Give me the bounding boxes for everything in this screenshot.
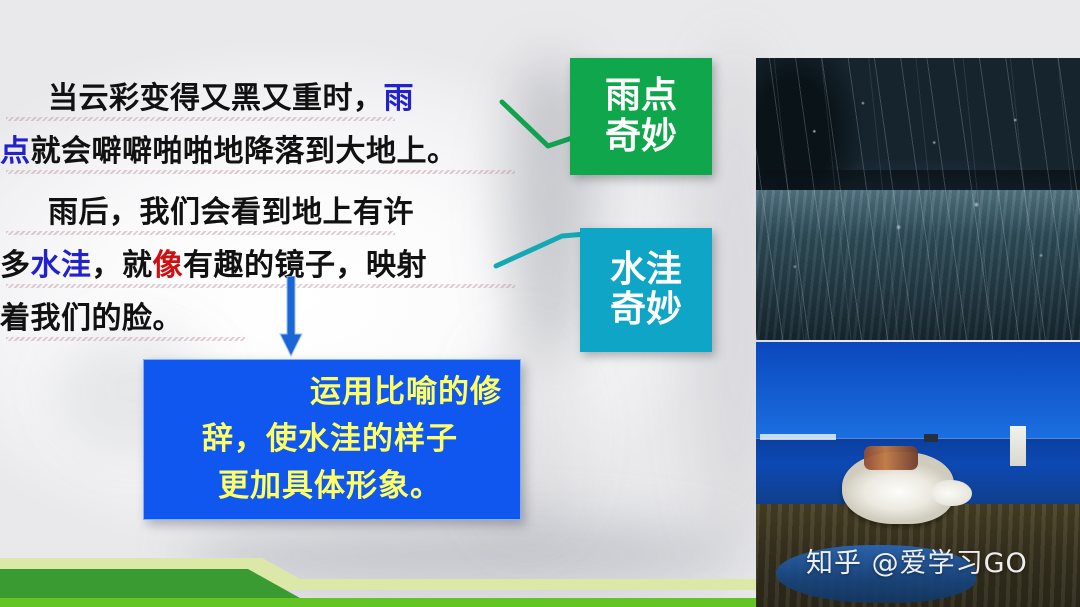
summary-line1: 运用比喻的修 (154, 369, 506, 416)
photo-rain-falling (756, 58, 1080, 340)
paragraph2-line3-text: 着我们的脸。 (0, 302, 183, 335)
photo-lake-sky (756, 342, 1080, 438)
callout-rain-drop-line2: 奇妙 (570, 117, 712, 157)
paragraph1-line2-highlight: 点 (0, 135, 31, 168)
paragraph2-line2: 多水洼，就像有趣的镜子，映射 (0, 239, 545, 292)
callout-puddle-line2: 奇妙 (580, 290, 712, 330)
paragraph2-line2-b: ，就 (92, 249, 153, 282)
paragraph2-line2-a: 多 (0, 249, 31, 282)
photo-lake-boat (924, 434, 938, 442)
paragraph1-line1-text: 当云彩变得又黑又重时， (48, 82, 384, 115)
summary-line3: 更加具体形象。 (154, 463, 506, 510)
slide-canvas: 当云彩变得又黑又重时，雨 点就会噼噼啪啪地降落到大地上。 雨后，我们会看到地上有… (0, 0, 1080, 607)
paragraph2-line2-red: 像 (153, 249, 184, 282)
paragraph2-line1-text: 雨后，我们会看到地上有许 (48, 196, 414, 229)
photo-lake-stone-marker (1010, 426, 1026, 466)
summary-callout-box[interactable]: 运用比喻的修 辞，使水洼的样子 更加具体形象。 (143, 359, 521, 520)
photo-lake-yak-head (932, 480, 972, 506)
photo-lake-yak-saddle (864, 446, 918, 470)
paragraph1-line2: 点就会噼噼啪啪地降落到大地上。 (0, 125, 545, 178)
photo-lake-far-shore (760, 434, 836, 440)
callout-puddle-line1: 水洼 (580, 250, 712, 290)
paragraph2-line1: 雨后，我们会看到地上有许 (0, 186, 545, 239)
paragraph-puddles: 雨后，我们会看到地上有许 多水洼，就像有趣的镜子，映射 着我们的脸。 (0, 186, 545, 345)
paragraph-rain-drops: 当云彩变得又黑又重时，雨 点就会噼噼啪啪地降落到大地上。 (0, 72, 545, 178)
callout-puddle[interactable]: 水洼 奇妙 (580, 228, 712, 352)
paragraph1-line1-highlight: 雨 (384, 82, 415, 115)
paragraph1-line2-text: 就会噼噼啪啪地降落到大地上。 (31, 135, 458, 168)
callout-rain-drop-line1: 雨点 (570, 76, 712, 116)
paragraph1-line1: 当云彩变得又黑又重时，雨 (0, 72, 545, 125)
footer-band-bright (0, 598, 756, 607)
footer-green-decoration (0, 545, 756, 607)
down-arrow-icon (278, 276, 304, 358)
summary-line2: 辞，使水洼的样子 (154, 416, 506, 463)
photo-rain-droplets (756, 58, 1080, 340)
paragraph2-line2-c: 有趣的镜子，映射 (183, 249, 427, 282)
paragraph2-line3: 着我们的脸。 (0, 292, 545, 345)
callout-rain-drop[interactable]: 雨点 奇妙 (570, 58, 712, 175)
watermark-text: 知乎 @爱学习GO (806, 541, 1028, 580)
paragraph2-line2-blue: 水洼 (31, 249, 92, 282)
